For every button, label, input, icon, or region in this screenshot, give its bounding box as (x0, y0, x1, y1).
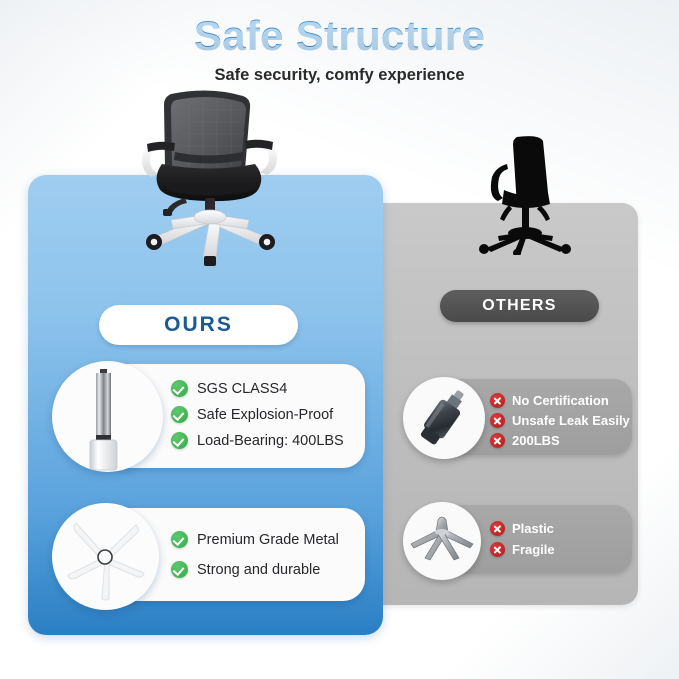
feature-label: SGS CLASS4 (197, 381, 287, 397)
page-subtitle: Safe security, comfy experience (0, 66, 679, 85)
feature-label: No Certification (512, 393, 609, 408)
others-gas-cylinder-image (403, 377, 485, 459)
x-icon (490, 433, 505, 448)
x-icon (490, 413, 505, 428)
infographic-stage: Safe Structure Safe security, comfy expe… (0, 0, 679, 679)
x-icon (490, 521, 505, 536)
feature-label: Unsafe Leak Easily (512, 413, 630, 428)
ours-feature-list-base: Premium Grade Metal Strong and durable (171, 531, 339, 578)
feature-item: No Certification (490, 393, 630, 408)
feature-label: 200LBS (512, 433, 560, 448)
feature-label: Load-Bearing: 400LBS (197, 433, 344, 449)
others-label-pill: OTHERS (440, 290, 599, 322)
others-chair-silhouette-image (470, 133, 580, 255)
ours-label-pill: OURS (99, 305, 298, 345)
feature-item: Load-Bearing: 400LBS (171, 432, 344, 449)
feature-item: Premium Grade Metal (171, 531, 339, 548)
feature-label: Premium Grade Metal (197, 532, 339, 548)
feature-item: Unsafe Leak Easily (490, 413, 630, 428)
check-icon (171, 406, 188, 423)
x-icon (490, 393, 505, 408)
feature-label: Fragile (512, 542, 555, 557)
feature-item: Fragile (490, 542, 555, 557)
check-icon (171, 432, 188, 449)
others-feature-list-base: Plastic Fragile (490, 521, 555, 557)
check-icon (171, 561, 188, 578)
ours-chair-product-image (127, 86, 292, 271)
feature-label: Plastic (512, 521, 554, 536)
feature-label: Safe Explosion-Proof (197, 407, 333, 423)
feature-item: 200LBS (490, 433, 630, 448)
ours-feature-list-cylinder: SGS CLASS4 Safe Explosion-Proof Load-Bea… (171, 380, 344, 449)
feature-item: Safe Explosion-Proof (171, 406, 344, 423)
feature-label: Strong and durable (197, 562, 320, 578)
feature-item: SGS CLASS4 (171, 380, 344, 397)
x-icon (490, 542, 505, 557)
ours-star-base-image (52, 503, 159, 610)
others-star-base-image (403, 502, 481, 580)
others-feature-list-cylinder: No Certification Unsafe Leak Easily 200L… (490, 393, 630, 448)
check-icon (171, 380, 188, 397)
feature-item: Plastic (490, 521, 555, 536)
check-icon (171, 531, 188, 548)
page-title: Safe Structure (0, 12, 679, 60)
ours-gas-cylinder-image (52, 361, 163, 472)
feature-item: Strong and durable (171, 561, 339, 578)
